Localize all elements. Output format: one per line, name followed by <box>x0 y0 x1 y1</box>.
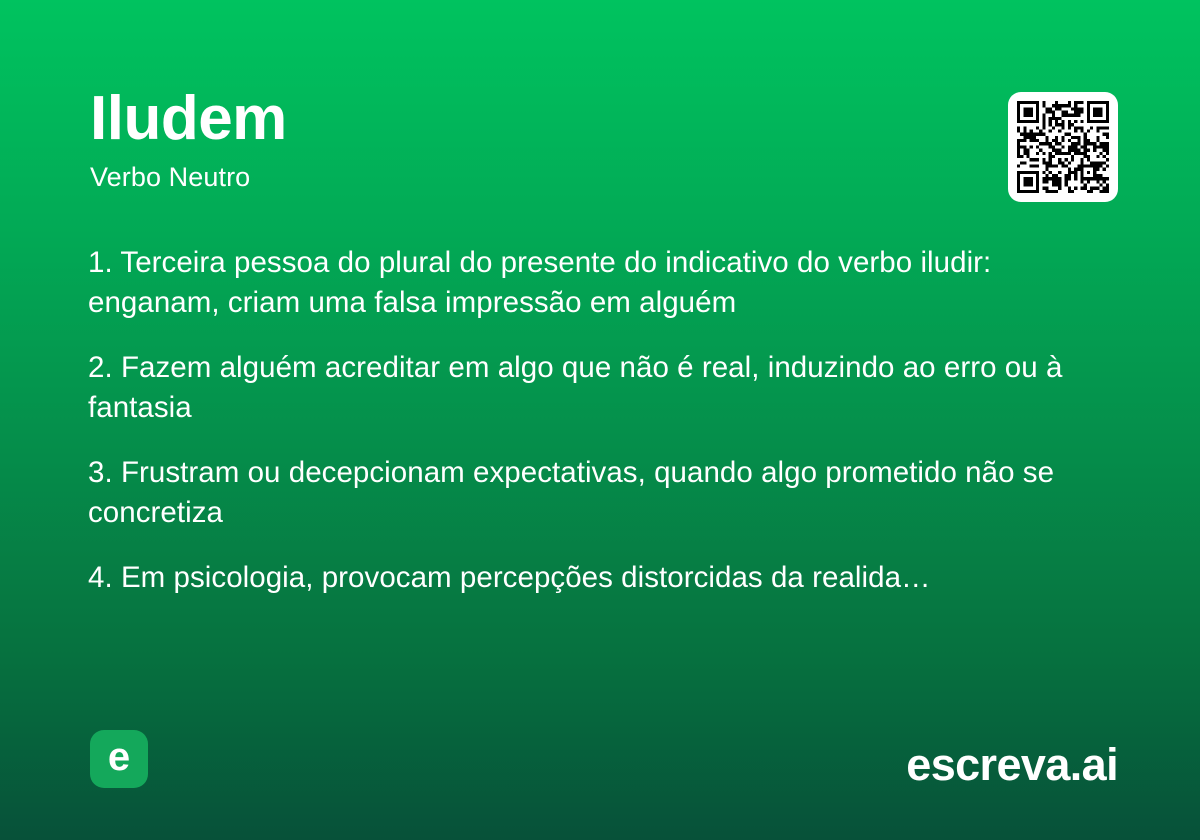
word-class-label: Verbo Neutro <box>90 161 1110 193</box>
card-header: Iludem Verbo Neutro <box>90 86 1110 193</box>
definition-list: 1. Terceira pessoa do plural do presente… <box>88 243 1108 598</box>
definition-item: 1. Terceira pessoa do plural do presente… <box>88 243 1108 323</box>
qr-code-icon <box>1017 101 1109 193</box>
qr-code-block[interactable] <box>1008 92 1118 202</box>
page-title: Iludem <box>90 86 1110 151</box>
dictionary-card: Iludem Verbo Neutro 1. Terceira pessoa d… <box>0 0 1200 840</box>
brand-logo-badge: e <box>90 730 148 788</box>
card-footer: e escreva.ai <box>90 728 1118 788</box>
definition-item: 3. Frustram ou decepcionam expectativas,… <box>88 453 1108 533</box>
brand-wordmark: escreva.ai <box>906 742 1118 787</box>
definition-item: 4. Em psicologia, provocam percepções di… <box>88 558 1108 598</box>
brand-logo-letter: e <box>108 737 130 777</box>
definition-item: 2. Fazem alguém acreditar em algo que nã… <box>88 348 1108 428</box>
